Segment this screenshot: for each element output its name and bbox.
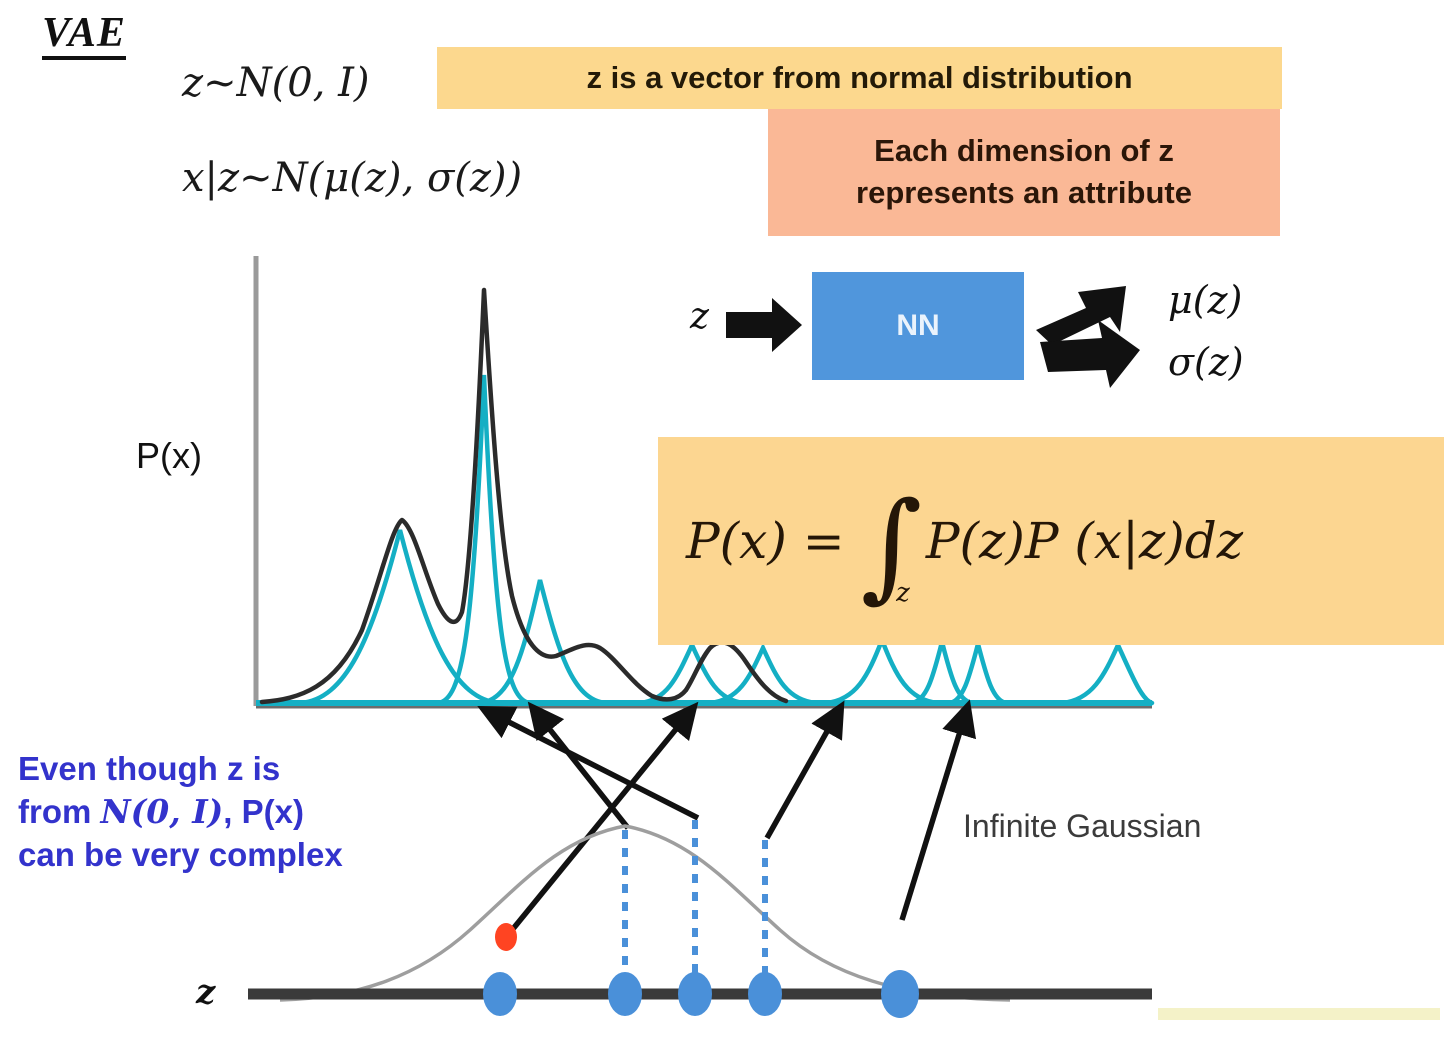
callout-line-1: Each dimension of z (874, 130, 1174, 172)
slide-canvas: VAE z~N(0, I) x|z~N(μ(z), σ(z)) z is a v… (0, 0, 1444, 1049)
arrow-z5 (902, 712, 966, 920)
formula-rhs: P(z)P (x|z)dz (926, 512, 1243, 570)
arrow-z4 (767, 712, 838, 838)
integral-formula-box: P(x) = ∫ z P(z)P (x|z)dz (658, 437, 1444, 645)
z-sample-dot (881, 970, 919, 1018)
callout-line-2: represents an attribute (856, 172, 1192, 214)
callout-z-vector: z is a vector from normal distribution (437, 47, 1282, 109)
arrow-z2 (536, 712, 628, 828)
integral-subscript: z (896, 578, 910, 608)
arrow-z1 (508, 712, 690, 935)
arrow-z3 (489, 712, 698, 818)
formula-lhs: P(x) = (686, 512, 845, 570)
integral-icon: ∫ (861, 513, 922, 578)
z-sample-droplines (625, 820, 765, 990)
z-sample-dot (678, 972, 712, 1016)
z-sample-dot (608, 972, 642, 1016)
z-sample-dot (748, 972, 782, 1016)
callout-dimension-attribute: Each dimension of z represents an attrib… (768, 108, 1280, 236)
decorative-strip (1158, 1008, 1440, 1020)
z-sample-dot (483, 972, 517, 1016)
highlight-point (495, 923, 517, 951)
integral-formula: P(x) = ∫ z P(z)P (x|z)dz (686, 509, 1243, 574)
mapping-arrows (489, 712, 966, 935)
